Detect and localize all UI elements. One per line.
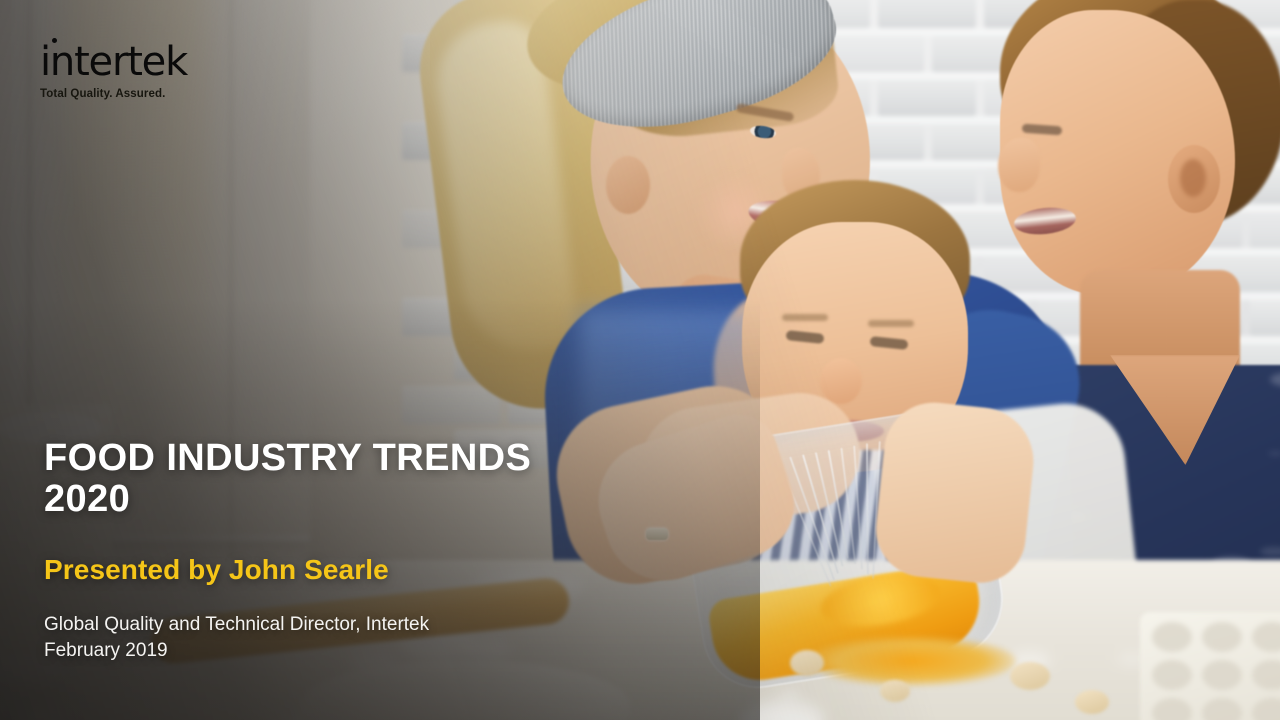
title-line-1: FOOD INDUSTRY TRENDS xyxy=(44,437,531,479)
title-line-2: 2020 xyxy=(44,478,130,520)
presenter-line: Presented by John Searle xyxy=(44,554,764,586)
logo-tagline: Total Quality. Assured. xyxy=(40,88,260,100)
presentation-date: February 2019 xyxy=(44,638,764,664)
page-title: FOOD INDUSTRY TRENDS 2020 xyxy=(44,438,764,520)
intertek-logo: intertek Total Quality. Assured. xyxy=(40,42,260,100)
presenter-role: Global Quality and Technical Director, I… xyxy=(44,612,764,638)
logo-wordmark: intertek xyxy=(40,42,187,82)
logo-dot-icon xyxy=(52,38,57,43)
title-slide: intertek Total Quality. Assured. FOOD IN… xyxy=(0,0,1280,720)
title-text-block: FOOD INDUSTRY TRENDS 2020 Presented by J… xyxy=(44,438,764,664)
presenter-meta: Global Quality and Technical Director, I… xyxy=(44,612,764,664)
